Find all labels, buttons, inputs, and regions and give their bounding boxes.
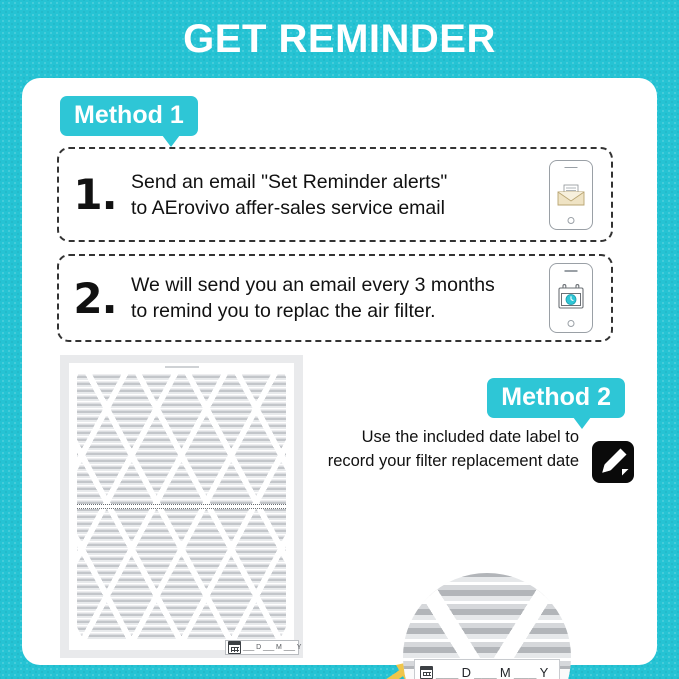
date-label-month: M: [276, 644, 282, 651]
step-item-2: 2. We will send you an email every 3 mon…: [57, 254, 613, 342]
date-label-blank-month: ___: [263, 644, 274, 651]
step-text: Send an email "Set Reminder alerts" to A…: [131, 169, 531, 221]
magnified-date-label: ___ D ___ M ___ Y: [414, 659, 560, 679]
pencil-edit-icon: [592, 441, 634, 483]
calendar-clock-icon: [556, 284, 586, 312]
badge-method-2-label: Method 2: [501, 383, 611, 411]
page-title: GET REMINDER: [0, 16, 679, 62]
step-text-line-2: to AErovivo affer-sales service email: [131, 195, 531, 221]
date-label-blank-day: ___: [243, 644, 254, 651]
envelope-icon: [557, 184, 585, 206]
badge-method-2: Method 2: [487, 378, 625, 418]
step-text: We will send you an email every 3 months…: [131, 272, 531, 324]
air-filter-image: ___ D ___ M ___ Y: [60, 355, 303, 658]
pencil-edit-glyph: [592, 441, 634, 483]
step-number: 1.: [59, 170, 131, 219]
reminder-poster: GET REMINDER Method 1 1. Send an email "…: [0, 0, 679, 679]
step-icon-wrap: [531, 263, 611, 333]
calendar-icon: [420, 666, 433, 679]
date-label-blank-day: ___: [436, 665, 459, 679]
badge-method-1: Method 1: [60, 96, 198, 136]
filter-media: [77, 373, 286, 640]
filter-notch-icon: [165, 366, 199, 368]
date-label-blank-month: ___: [474, 665, 497, 679]
filter-mid-seam: [77, 504, 286, 509]
method-2-line-2: record your filter replacement date: [328, 449, 579, 473]
method-2-description: Use the included date label to record yo…: [328, 425, 579, 473]
date-label-blank-year: ___: [514, 665, 537, 679]
badge-method-1-label: Method 1: [74, 101, 184, 129]
calendar-icon: [228, 641, 241, 654]
method-2-line-1: Use the included date label to: [328, 425, 579, 449]
air-filter-frame: [69, 363, 294, 650]
magnified-date-label-view: ___ D ___ M ___ Y: [403, 573, 571, 679]
phone-envelope-icon: [549, 160, 593, 230]
step-number: 2.: [59, 274, 131, 323]
step-item-1: 1. Send an email "Set Reminder alerts" t…: [57, 147, 613, 242]
page-title-text: GET REMINDER: [183, 16, 496, 62]
filter-date-label: ___ D ___ M ___ Y: [225, 640, 299, 655]
date-label-blank-year: ___: [284, 644, 295, 651]
date-label-day: D: [256, 644, 261, 651]
date-label-day: D: [462, 665, 472, 679]
badge-tail-icon: [162, 135, 180, 147]
content-card: Method 1 1. Send an email "Set Reminder …: [22, 78, 657, 665]
step-text-line-2: to remind you to replac the air filter.: [131, 298, 531, 324]
step-text-line-1: We will send you an email every 3 months: [131, 272, 531, 298]
step-icon-wrap: [531, 160, 611, 230]
date-label-year: Y: [297, 644, 301, 651]
step-text-line-1: Send an email "Set Reminder alerts": [131, 169, 531, 195]
phone-calendar-clock-icon: [549, 263, 593, 333]
date-label-month: M: [500, 665, 511, 679]
date-label-year: Y: [540, 665, 549, 679]
